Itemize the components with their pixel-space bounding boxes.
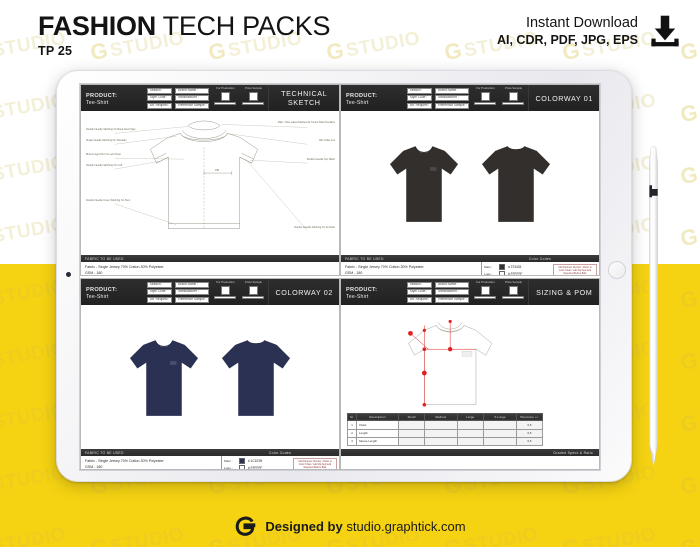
proto-sample-check[interactable]: Proto Sample	[241, 87, 265, 109]
color-main-label: Main :	[484, 265, 496, 269]
product-value: Tee-Shirt	[346, 100, 404, 108]
fabric-info: Fabric - Single Jersey 70% Cotton 30% Po…	[81, 456, 221, 470]
color-main-code: # 1C1E39	[248, 459, 262, 463]
panel-title: SIZING & POM	[528, 279, 599, 305]
color-code-row: Main : # 373433	[484, 264, 550, 271]
field-col-right: Brand Name : Manufacturer : Reference Sa…	[175, 282, 209, 303]
annotation-right-4: Double Needle Stitching On Armhole	[225, 226, 335, 230]
watermark-text: GSTUDIO	[678, 0, 700, 4]
download-text-block: Instant Download AI, CDR, PDF, JPG, EPS	[497, 15, 638, 47]
for-production-checkbox[interactable]	[481, 286, 490, 295]
season-field[interactable]: Season :	[147, 88, 173, 94]
color-logo-code: # FFFFFF	[508, 272, 522, 276]
pom-large[interactable]	[457, 429, 483, 437]
pom-small[interactable]	[399, 437, 425, 445]
designed-by-text: Designed by studio.graphtick.com	[265, 519, 465, 534]
download-icon[interactable]	[648, 14, 682, 48]
annotation-right-2: Rib Collar 1x1	[225, 139, 335, 143]
pom-large[interactable]	[457, 421, 483, 429]
color-note: Add Pantone Number / Refer to Color Char…	[553, 264, 597, 277]
field-col-right: Brand Name : Manufacturer : Reference Sa…	[175, 88, 209, 109]
pom-desc: Length	[357, 429, 399, 437]
panel-colorway-01[interactable]: PRODUCT: Tee-Shirt Season : Style Code :…	[340, 84, 600, 276]
brand-name-field[interactable]: Brand Name :	[175, 88, 209, 94]
for-production-checkbox[interactable]	[481, 92, 490, 101]
season-field[interactable]: Season :	[407, 88, 433, 94]
pom-tolerance: 0.5	[517, 421, 543, 429]
pom-tolerance: 0.5	[517, 429, 543, 437]
pom-medium[interactable]	[425, 421, 457, 429]
color-codes-box: Main : # 373433 Logo : # FFFFFF	[481, 262, 599, 276]
art-request-field[interactable]: Art. Request :	[407, 103, 433, 109]
pom-col-large: Large	[457, 413, 483, 421]
watermark-g-icon: G	[324, 0, 346, 3]
for-production-check[interactable]: For Production	[473, 87, 497, 109]
pom-desc: Sleeve Length	[357, 437, 399, 445]
manufacturer-field[interactable]: Manufacturer :	[435, 95, 469, 101]
fabric-rows	[341, 456, 599, 470]
panel-title: COLORWAY 02	[268, 279, 339, 305]
field-col-left: Season : Style Code : Art. Request :	[147, 282, 173, 303]
product-block: PRODUCT: Tee-Shirt	[81, 279, 144, 305]
fabric-line-2: GSM - 180	[85, 464, 217, 470]
color-main-code: # 373433	[508, 265, 521, 269]
reference-sample-field[interactable]: Reference Sample :	[435, 103, 469, 109]
manufacturer-field[interactable]: Manufacturer :	[175, 289, 209, 295]
color-code-row: Logo : # FFFFFF	[484, 271, 550, 277]
pom-tolerance: 0.5	[517, 437, 543, 445]
annotation-left-1: Double Needle Stitching On Back Neck Tap…	[86, 128, 136, 132]
watermark-text: GSTUDIO	[0, 0, 68, 4]
tee-front-render	[387, 139, 461, 226]
pom-desc: Chest	[357, 421, 399, 429]
color-code-row: Main : # 1C1E39	[224, 458, 290, 465]
watermark-g-icon: G	[88, 0, 110, 3]
pom-xlarge[interactable]	[484, 421, 517, 429]
header-fields: Season : Style Code : Art. Request : Bra…	[404, 279, 473, 305]
pom-table-body: 1 Chest 0.5 2 Length	[348, 421, 543, 446]
pom-col-description: Description	[357, 413, 399, 421]
graded-specs-placeholder	[341, 456, 599, 470]
pom-table-head: Sr. Description Small Medium Large X-Lar…	[348, 413, 543, 421]
proto-sample-date[interactable]	[242, 102, 264, 106]
pom-xlarge[interactable]	[484, 437, 517, 445]
proto-sample-check[interactable]: Proto Sample	[241, 281, 265, 303]
designed-by-label: Designed by	[265, 519, 346, 534]
panel-title: COLORWAY 01	[528, 85, 599, 111]
color-note: Add Pantone Number / Refer to Color Char…	[293, 458, 337, 471]
product-label: PRODUCT:	[86, 286, 144, 294]
annotation-right-3: Double Needle Top Stitch	[225, 158, 335, 162]
product-label: PRODUCT:	[346, 92, 404, 100]
tee-pair	[81, 305, 339, 449]
svg-text:CB: CB	[215, 168, 219, 172]
pom-sr: 2	[348, 429, 357, 437]
watermark-g-icon: G	[560, 0, 582, 3]
color-logo-label: Logo :	[224, 466, 236, 470]
header-checkboxes: For Production Proto Sample	[472, 85, 528, 111]
watermark-text: GSTUDIO	[442, 0, 539, 4]
apple-pencil	[646, 140, 661, 478]
for-production-date[interactable]	[474, 102, 496, 106]
style-code-field[interactable]: Style Code :	[147, 95, 173, 101]
color-logo-swatch	[239, 465, 245, 470]
pom-area[interactable]: Sr. Description Small Medium Large X-Lar…	[341, 305, 599, 449]
page-title-light: TECH PACKS	[156, 11, 330, 41]
tee-back-render	[219, 333, 293, 420]
fabric-line-2: GSM - 180	[345, 270, 477, 276]
pom-col-tolerance: Tolerance +/-	[517, 413, 543, 421]
page-title-bold: FASHION	[38, 11, 156, 41]
panel-header: PRODUCT: Tee-Shirt Season : Style Code :…	[341, 85, 599, 111]
proto-sample-label: Proto Sample	[245, 87, 262, 91]
color-codes-list: Main : # 373433 Logo : # FFFFFF	[484, 264, 550, 277]
for-production-label: For Production	[216, 87, 234, 91]
fabric-strip: Graded Specs & Ratio	[341, 449, 599, 470]
for-production-check[interactable]: For Production	[213, 87, 237, 109]
panel-header: PRODUCT: Tee-Shirt Season : Style Code :…	[81, 279, 339, 305]
art-request-field[interactable]: Art. Request :	[407, 297, 433, 303]
proto-sample-date[interactable]	[502, 296, 524, 300]
tee-back-render	[479, 139, 553, 226]
reference-sample-field[interactable]: Reference Sample :	[175, 297, 209, 303]
color-codes-body: Main : # 373433 Logo : # FFFFFF	[482, 262, 599, 276]
color-codes-head: Color Codes	[221, 449, 339, 456]
pom-col-xlarge: X-Large	[484, 413, 517, 421]
panel-header: PRODUCT: Tee-Shirt Season : Style Code :…	[341, 279, 599, 305]
reference-sample-field[interactable]: Reference Sample :	[175, 103, 209, 109]
proto-sample-check[interactable]: Proto Sample	[501, 87, 525, 109]
proto-sample-checkbox[interactable]	[509, 286, 518, 295]
header-fields: Season : Style Code : Art. Request : Bra…	[144, 279, 213, 305]
watermark-text: GSTUDIO	[560, 0, 657, 4]
field-col-left: Season : Style Code : Art. Request :	[147, 88, 173, 109]
header-right: Instant Download AI, CDR, PDF, JPG, EPS	[497, 14, 682, 48]
product-value: Tee-Shirt	[346, 294, 404, 302]
tee-front-render	[127, 333, 201, 420]
page-title: FASHION TECH PACKS	[38, 12, 330, 40]
g-studio-logo-icon	[234, 515, 256, 537]
product-block: PRODUCT: Tee-Shirt	[341, 85, 404, 111]
product-label: PRODUCT:	[86, 92, 144, 100]
watermark-g-icon: G	[678, 223, 700, 251]
for-production-date[interactable]	[214, 296, 236, 300]
front-camera-icon	[66, 272, 71, 277]
color-main-swatch	[499, 264, 505, 270]
site-url: studio.graphtick.com	[346, 519, 465, 534]
header-checkboxes: For Production Proto Sample	[472, 279, 528, 305]
color-main-swatch	[239, 458, 245, 464]
proto-sample-checkbox[interactable]	[509, 92, 518, 101]
style-code-field[interactable]: Style Code :	[407, 289, 433, 295]
sketch-area[interactable]: CB	[81, 111, 339, 255]
watermark-g-icon: G	[678, 161, 700, 189]
header-left: FASHION TECH PACKS TP 25	[38, 12, 330, 58]
table-row[interactable]: 3 Sleeve Length 0.5	[348, 437, 543, 445]
pom-medium[interactable]	[425, 429, 457, 437]
panel-title: TECHNICAL SKETCH	[268, 85, 339, 111]
fabric-rows: Fabric - Single Jersey 70% Cotton 30% Po…	[81, 456, 339, 470]
fabric-strip: FABRIC TO BE USED Color Codes Fabric - S…	[81, 449, 339, 470]
reference-sample-field[interactable]: Reference Sample :	[435, 297, 469, 303]
graded-specs-head: Graded Specs & Ratio	[341, 449, 599, 456]
product-label: PRODUCT:	[346, 286, 404, 294]
watermark-g-icon: G	[206, 0, 228, 3]
annotation-left-5: Double Needle Cover Stitching On Hem	[86, 199, 130, 203]
field-col-right: Brand Name : Manufacturer : Reference Sa…	[435, 88, 469, 109]
art-request-field[interactable]: Art. Request :	[147, 103, 173, 109]
pom-measurement-table[interactable]: Sr. Description Small Medium Large X-Lar…	[347, 413, 543, 446]
for-production-check[interactable]: For Production	[213, 281, 237, 303]
pom-sr: 1	[348, 421, 357, 429]
watermark-g-icon: G	[678, 99, 700, 127]
for-production-date[interactable]	[474, 296, 496, 300]
product-value: Tee-Shirt	[86, 294, 144, 302]
pom-header-row: Sr. Description Small Medium Large X-Lar…	[348, 413, 543, 421]
pom-sr: 3	[348, 437, 357, 445]
proto-sample-label: Proto Sample	[245, 281, 262, 285]
proto-sample-date[interactable]	[502, 102, 524, 106]
table-row[interactable]: 1 Chest 0.5	[348, 421, 543, 429]
watermark-text: GSTUDIO	[206, 0, 303, 4]
table-row[interactable]: 2 Length 0.5	[348, 429, 543, 437]
proto-sample-date[interactable]	[242, 296, 264, 300]
manufacturer-field[interactable]: Manufacturer :	[435, 289, 469, 295]
file-formats-label: AI, CDR, PDF, JPG, EPS	[497, 33, 638, 47]
fabric-line-2: GSM - 180	[85, 270, 335, 276]
footer-brand: Designed by studio.graphtick.com	[0, 515, 700, 537]
brand-name-field[interactable]: Brand Name :	[175, 282, 209, 288]
watermark-text: GSTUDIO	[678, 148, 700, 190]
style-code-field[interactable]: Style Code :	[407, 95, 433, 101]
manufacturer-field[interactable]: Manufacturer :	[175, 95, 209, 101]
brand-name-field[interactable]: Brand Name :	[435, 88, 469, 94]
pom-col-medium: Medium	[425, 413, 457, 421]
watermark-text: GSTUDIO	[324, 24, 421, 66]
annotation-left-4: Double Needle Stitching On Cuff	[86, 164, 122, 168]
instant-download-label: Instant Download	[497, 15, 638, 31]
annotation-left-2: Single Needle Stitching On Shoulder	[86, 139, 127, 143]
fabric-strip: FABRIC TO BE USED Color Codes Fabric - S…	[341, 255, 599, 276]
color-logo-swatch	[499, 271, 505, 276]
field-col-left: Season : Style Code : Art. Request :	[407, 282, 433, 303]
watermark-g-icon: G	[442, 37, 464, 65]
product-block: PRODUCT: Tee-Shirt	[341, 279, 404, 305]
proto-sample-label: Proto Sample	[505, 281, 522, 285]
watermark-g-icon: G	[678, 0, 700, 3]
header-checkboxes: For Production Proto Sample	[212, 85, 268, 111]
product-block: PRODUCT: Tee-Shirt	[81, 85, 144, 111]
proto-sample-checkbox[interactable]	[249, 286, 258, 295]
style-code-field[interactable]: Style Code :	[147, 289, 173, 295]
pom-col-small: Small	[399, 413, 425, 421]
tablet-device: PRODUCT: Tee-Shirt Season : Style Code :…	[56, 70, 632, 482]
page-subtitle: TP 25	[38, 44, 330, 58]
pom-small[interactable]	[399, 429, 425, 437]
for-production-label: For Production	[216, 281, 234, 285]
tablet-screen[interactable]: PRODUCT: Tee-Shirt Season : Style Code :…	[79, 83, 601, 471]
color-code-row: Logo : # FFFFFF	[224, 465, 290, 471]
fabric-strip: FABRIC TO BE USED Fabric - Single Jersey…	[81, 255, 339, 276]
home-button[interactable]	[608, 261, 626, 279]
color-codes-head: Color Codes	[481, 255, 599, 262]
panel-header: PRODUCT: Tee-Shirt Season : Style Code :…	[81, 85, 339, 111]
for-production-check[interactable]: For Production	[473, 281, 497, 303]
colorway-render-area[interactable]	[341, 111, 599, 255]
proto-sample-check[interactable]: Proto Sample	[501, 281, 525, 303]
pom-col-sr: Sr.	[348, 413, 357, 421]
proto-sample-label: Proto Sample	[505, 87, 522, 91]
pom-xlarge[interactable]	[484, 429, 517, 437]
season-field[interactable]: Season :	[407, 282, 433, 288]
tee-pair	[341, 111, 599, 255]
art-request-field[interactable]: Art. Request :	[147, 297, 173, 303]
season-field[interactable]: Season :	[147, 282, 173, 288]
watermark-text: GSTUDIO	[88, 0, 185, 4]
color-logo-label: Logo :	[484, 272, 496, 276]
poster-canvas: GSTUDIOGSTUDIOGSTUDIOGSTUDIOGSTUDIOGSTUD…	[0, 0, 700, 547]
color-codes-box: Main : # 1C1E39 Logo : # FFFFFF	[221, 456, 339, 470]
fabric-rows: Fabric - Single Jersey 70% Cotton 30% Po…	[341, 262, 599, 276]
watermark-g-icon: G	[442, 0, 464, 3]
fabric-info: Fabric - Single Jersey 70% Cotton 30% Po…	[81, 262, 339, 276]
watermark-text: GSTUDIO	[324, 0, 421, 4]
watermark-text: GSTUDIO	[678, 86, 700, 128]
colorway-render-area[interactable]	[81, 305, 339, 449]
technical-sketch-drawing: CB	[81, 111, 339, 255]
panel-colorway-02[interactable]: PRODUCT: Tee-Shirt Season : Style Code :…	[80, 278, 340, 470]
fabric-head: FABRIC TO BE USED	[81, 449, 221, 456]
for-production-checkbox[interactable]	[221, 286, 230, 295]
field-col-right: Brand Name : Manufacturer : Reference Sa…	[435, 282, 469, 303]
fabric-info: Fabric - Single Jersey 70% Cotton 30% Po…	[341, 262, 481, 276]
brand-name-field[interactable]: Brand Name :	[435, 282, 469, 288]
watermark-text: GSTUDIO	[678, 210, 700, 252]
color-logo-code: # FFFFFF	[248, 466, 262, 470]
color-codes-body: Main : # 1C1E39 Logo : # FFFFFF	[222, 456, 339, 470]
for-production-label: For Production	[476, 87, 494, 91]
annotation-right-1: Main / Size Label Attached At Center Bac…	[225, 121, 335, 125]
color-codes-list: Main : # 1C1E39 Logo : # FFFFFF	[224, 458, 290, 471]
pom-large[interactable]	[457, 437, 483, 445]
pom-small[interactable]	[399, 421, 425, 429]
panel-technical-sketch[interactable]: PRODUCT: Tee-Shirt Season : Style Code :…	[80, 84, 340, 276]
for-production-label: For Production	[476, 281, 494, 285]
proto-sample-checkbox[interactable]	[249, 92, 258, 101]
for-production-checkbox[interactable]	[221, 92, 230, 101]
color-main-label: Main :	[224, 459, 236, 463]
header-fields: Season : Style Code : Art. Request : Bra…	[144, 85, 213, 111]
product-value: Tee-Shirt	[86, 100, 144, 108]
fabric-head: FABRIC TO BE USED	[341, 255, 481, 262]
pom-medium[interactable]	[425, 437, 457, 445]
fabric-rows: Fabric - Single Jersey 70% Cotton 30% Po…	[81, 262, 339, 276]
fabric-head: FABRIC TO BE USED	[81, 255, 339, 262]
panel-sizing-pom[interactable]: PRODUCT: Tee-Shirt Season : Style Code :…	[340, 278, 600, 470]
header-checkboxes: For Production Proto Sample	[212, 279, 268, 305]
for-production-date[interactable]	[214, 102, 236, 106]
annotation-left-3: Brand Logo Print On Left Chest	[86, 153, 121, 157]
field-col-left: Season : Style Code : Art. Request :	[407, 88, 433, 109]
header-fields: Season : Style Code : Art. Request : Bra…	[404, 85, 473, 111]
